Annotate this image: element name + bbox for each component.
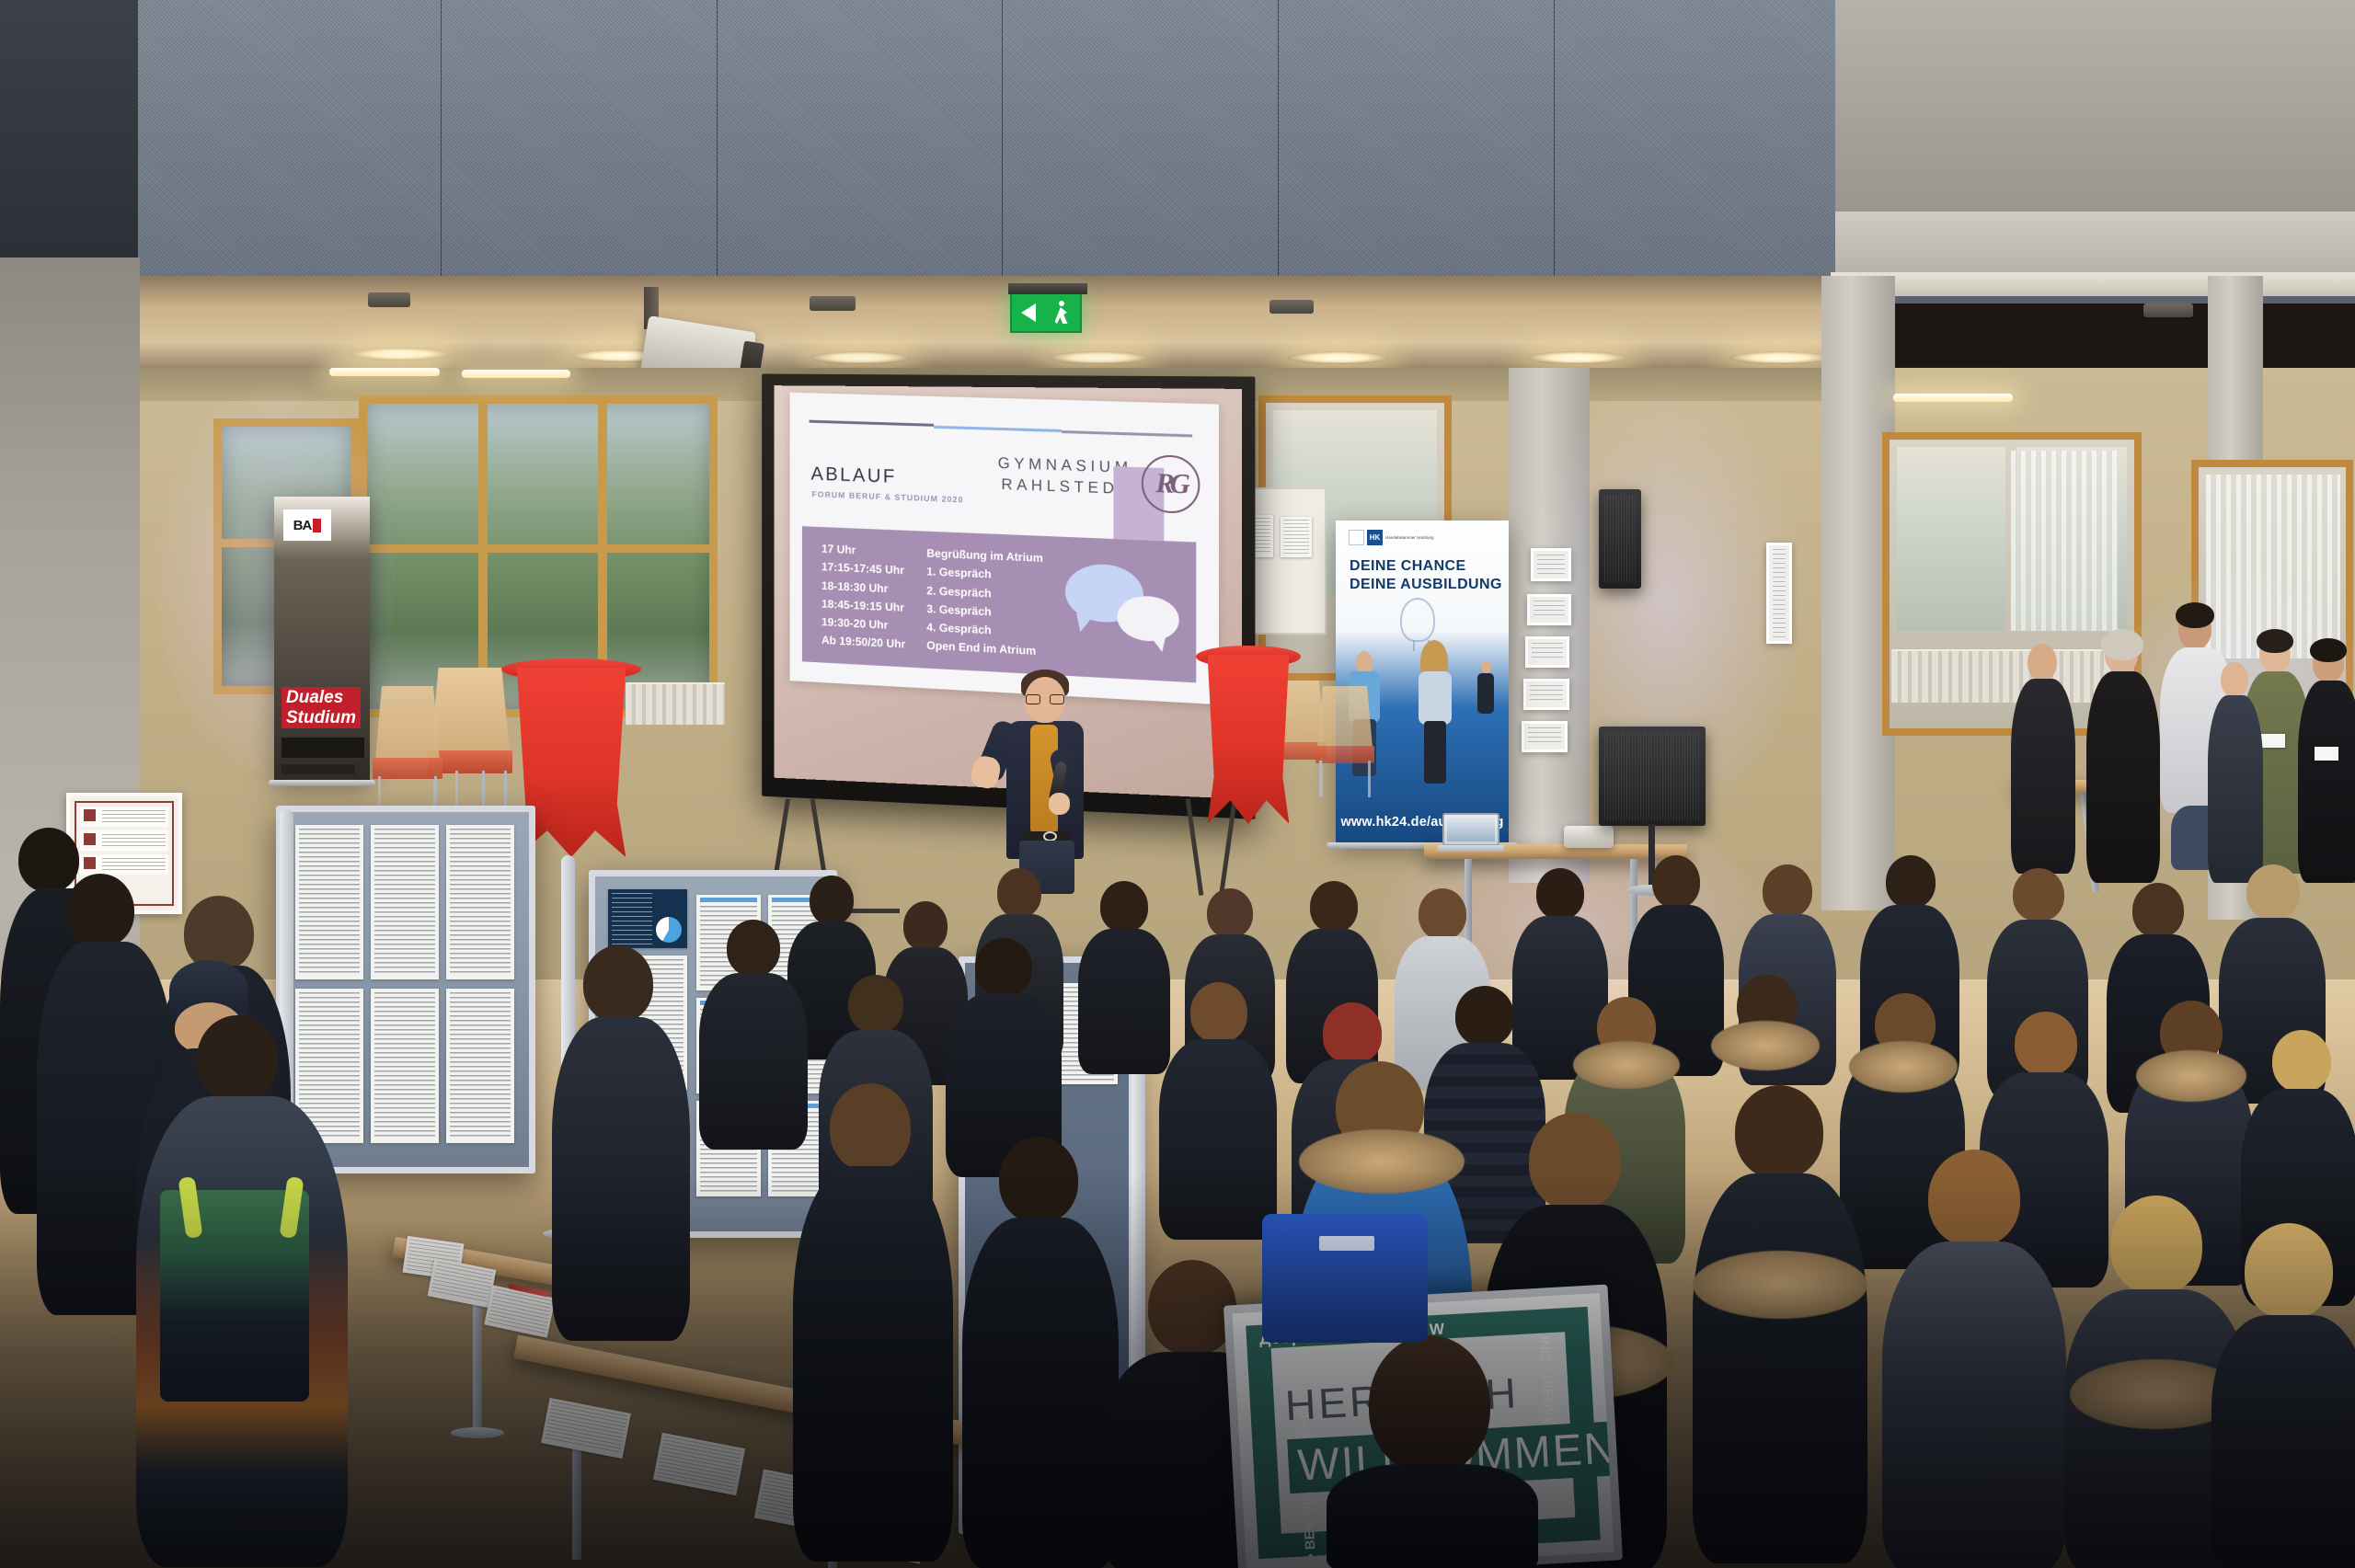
person-torso xyxy=(2208,695,2263,883)
fur-hood xyxy=(1693,1251,1867,1319)
person-head xyxy=(1928,1150,2020,1247)
ceiling-acoustic-panel xyxy=(442,0,718,285)
hk-logo: HK Handelskammer Hamburg xyxy=(1349,530,1434,545)
slide-bar-grey xyxy=(1062,430,1192,437)
downlight xyxy=(1527,351,1628,364)
ceiling-fixture xyxy=(810,296,856,311)
person-head xyxy=(1455,986,1514,1047)
arrow-left-icon xyxy=(1021,303,1036,322)
emergency-exit-sign xyxy=(1010,292,1082,333)
audience-member-with-backpack xyxy=(136,1015,348,1567)
audience-member xyxy=(1078,881,1170,1074)
person-hair xyxy=(2310,638,2347,662)
person-head xyxy=(830,1083,911,1172)
directory-lines xyxy=(102,810,166,823)
ba-logo-text: BA xyxy=(293,518,312,533)
chair xyxy=(1317,686,1373,793)
chair xyxy=(375,686,440,815)
lightbulb-icon xyxy=(1400,598,1435,642)
hk-headline-line2: DEINE AUSBILDUNG xyxy=(1350,576,1502,594)
banner-figure-female-body xyxy=(1419,671,1452,725)
hk-headline-line1: DEINE CHANCE xyxy=(1350,557,1502,576)
downlight xyxy=(1288,351,1389,364)
person-head xyxy=(66,874,134,947)
pinboard-sheet xyxy=(446,825,514,979)
rollup-banner-base xyxy=(269,780,375,786)
person-head xyxy=(999,1137,1078,1223)
slide-bar-blue xyxy=(934,425,1062,431)
bulletin-lines xyxy=(1534,601,1565,619)
window-mullion xyxy=(359,544,718,553)
person-head xyxy=(2013,868,2064,921)
fluorescent-tube xyxy=(329,368,440,376)
person-head xyxy=(2245,1223,2333,1319)
sheet-text-lines xyxy=(450,992,511,1139)
audience-member xyxy=(699,920,808,1150)
ceiling-fixture xyxy=(1269,300,1314,314)
donut-chart-icon xyxy=(656,917,682,943)
rollup-banner-duales-studium: BA Duales Studium xyxy=(274,497,370,782)
bulletin-lines xyxy=(1532,643,1563,661)
hk-headline: DEINE CHANCE DEINE AUSBILDUNG xyxy=(1350,557,1502,593)
person-head xyxy=(1763,864,1812,918)
ceiling-acoustic-panel xyxy=(1003,0,1279,285)
table-projector xyxy=(1564,826,1614,848)
glasses-icon xyxy=(1026,694,1064,704)
duales-title-line2: Studium xyxy=(286,708,356,727)
person-torso xyxy=(2211,1315,2355,1568)
speech-bubble-icon xyxy=(1117,595,1178,643)
person-head xyxy=(1536,868,1584,920)
presentation-slide: ABLAUF FORUM BERUF & STUDIUM 2020 GYMNAS… xyxy=(790,393,1219,705)
person-head xyxy=(1652,855,1700,909)
duales-title-line1: Duales xyxy=(286,688,356,707)
person-head xyxy=(2110,1196,2202,1295)
presenter xyxy=(982,664,1102,894)
fur-hood xyxy=(2136,1050,2246,1102)
person-torso xyxy=(2011,679,2075,874)
downlight xyxy=(350,348,451,361)
person-head xyxy=(2221,662,2248,697)
ceiling-acoustic-panel xyxy=(718,0,1003,285)
person-torso xyxy=(1159,1039,1277,1240)
high-table xyxy=(1196,646,1301,815)
ceiling-fixture xyxy=(368,292,410,307)
ba-logo-accent xyxy=(313,519,321,532)
person-head xyxy=(197,1015,278,1102)
wall-bulletin xyxy=(1522,721,1568,752)
bulletin-lines xyxy=(1530,685,1563,704)
laptop-screen xyxy=(1447,818,1495,841)
sheet-header-bar xyxy=(700,898,757,902)
slide-decor-bars xyxy=(810,420,1193,438)
hk-logo-square-blue: HK xyxy=(1367,530,1383,545)
ceiling-left-shadow xyxy=(0,0,138,276)
wall-pier xyxy=(1509,368,1590,883)
person-head xyxy=(810,876,854,925)
audience-member xyxy=(1693,1085,1867,1563)
ba-logo: BA xyxy=(283,509,331,541)
directory-icon xyxy=(84,809,96,821)
person-head xyxy=(1529,1113,1621,1210)
table-leg xyxy=(473,1295,482,1433)
school-name: GYMNASIUM RAHLSTEDT xyxy=(998,453,1132,500)
notice-lines xyxy=(1283,520,1309,555)
ceiling-fixture xyxy=(2143,303,2193,317)
standing-adult xyxy=(2298,644,2355,883)
person-head xyxy=(727,920,780,977)
notice-sheet xyxy=(1281,517,1312,557)
ceiling-acoustic-panel xyxy=(1555,0,1842,285)
hk-logo-square-white xyxy=(1349,530,1364,545)
person-sweater-dark xyxy=(2298,681,2355,883)
slide-subtitle: FORUM BERUF & STUDIUM 2020 xyxy=(811,489,963,504)
fur-hood xyxy=(1573,1041,1680,1089)
downlight xyxy=(810,351,911,364)
hk-logo-subtext: Handelskammer Hamburg xyxy=(1385,535,1434,541)
bulletin-lines xyxy=(1528,727,1561,746)
school-name-line2: RAHLSTEDT xyxy=(998,475,1132,500)
standing-adult xyxy=(2208,662,2263,883)
schedule-table: 17 Uhr Begrüßung im Atrium 17:15-17:45 U… xyxy=(821,540,1043,661)
speaker-grill xyxy=(1604,732,1700,820)
pinboard-sheet xyxy=(446,989,514,1143)
ceiling-acoustic-panel xyxy=(138,0,442,285)
person-torso xyxy=(793,1166,953,1562)
wall-bulletin xyxy=(1531,548,1571,581)
presenter-hand-holding-mic xyxy=(1049,793,1070,815)
pa-speaker xyxy=(1599,727,1706,826)
laptop-lid xyxy=(1442,813,1499,846)
slide-bar-violet xyxy=(810,420,934,427)
ceiling-concrete-beam xyxy=(1835,0,2355,276)
audience-member xyxy=(1882,1150,2066,1568)
presenter-laptop[interactable] xyxy=(1442,813,1499,859)
chair-back xyxy=(431,668,510,753)
sheet-lines xyxy=(431,1261,493,1304)
person-head xyxy=(2272,1030,2331,1093)
person-head xyxy=(2015,1012,2077,1076)
person-torso xyxy=(699,973,808,1150)
brand-label xyxy=(1319,1236,1374,1251)
person-torso xyxy=(1693,1173,1867,1563)
window-curtain xyxy=(2011,451,2118,631)
person-hair xyxy=(2176,602,2214,628)
audience-member xyxy=(793,1083,953,1562)
audience-member xyxy=(2211,1223,2355,1568)
bulletin-lines xyxy=(1773,549,1786,637)
person-head xyxy=(1735,1085,1823,1179)
banner-figure-suit-head xyxy=(1481,660,1491,673)
pinboard-sheet xyxy=(371,825,439,979)
pinboard-sheet xyxy=(295,825,363,979)
person-head xyxy=(1207,888,1253,938)
person-head xyxy=(975,938,1032,997)
running-person-icon xyxy=(1053,301,1072,325)
photo-scene: ABLAUF FORUM BERUF & STUDIUM 2020 GYMNAS… xyxy=(0,0,2355,1568)
person-torso xyxy=(962,1218,1119,1568)
glasses-lens xyxy=(1026,694,1040,704)
pa-speaker-wall xyxy=(1599,489,1641,589)
person-head xyxy=(2132,883,2184,938)
person-torso xyxy=(1078,929,1170,1074)
audience-member xyxy=(1262,1214,1428,1398)
high-table-skirt xyxy=(1208,655,1290,824)
person-head xyxy=(1886,855,1936,909)
slide-schedule-panel: 17 Uhr Begrüßung im Atrium 17:15-17:45 U… xyxy=(802,526,1196,682)
school-logo: GYMNASIUM RAHLSTEDT RG xyxy=(986,451,1200,525)
ceiling-trim-strip xyxy=(1831,272,2355,296)
sheet-text-lines xyxy=(374,992,435,1139)
audience-member xyxy=(962,1137,1119,1568)
sheet-text-lines xyxy=(450,829,511,976)
fur-hood xyxy=(1299,1129,1465,1194)
glasses-lens xyxy=(1050,694,1064,704)
person-hair xyxy=(2257,629,2293,653)
wall-bulletin xyxy=(1527,594,1571,625)
person-torso xyxy=(2086,671,2160,883)
standing-adult xyxy=(2081,635,2165,883)
duales-studium-title: Duales Studium xyxy=(281,687,361,728)
audience-member xyxy=(552,945,690,1341)
person-head xyxy=(903,901,948,951)
person-head xyxy=(1323,1002,1382,1063)
directory-row xyxy=(80,807,168,827)
speaker-grill xyxy=(1604,495,1636,583)
duales-subtext-block xyxy=(281,738,364,758)
wall-bulletin xyxy=(1523,679,1569,710)
person-head xyxy=(1100,881,1148,933)
chair xyxy=(431,668,510,815)
bulletin-lines xyxy=(1537,555,1565,575)
ceiling-acoustic-panel xyxy=(1279,0,1555,285)
banner-figure-female-legs xyxy=(1424,721,1446,784)
fluorescent-tube xyxy=(1893,394,2013,402)
chair-legs xyxy=(1319,761,1370,796)
slide-title: ABLAUF xyxy=(810,464,896,488)
name-badge xyxy=(2315,747,2338,761)
wall-bulletin xyxy=(1766,543,1792,644)
name-badge xyxy=(2261,734,2285,748)
laptop-base xyxy=(1438,845,1504,852)
person-head xyxy=(2246,864,2300,920)
person-torso xyxy=(1882,1242,2066,1568)
sheet-text-lines xyxy=(374,829,435,976)
standing-adult xyxy=(2011,644,2075,874)
person-head xyxy=(997,868,1041,918)
pinboard-info-card xyxy=(608,889,687,948)
person-torso xyxy=(552,1017,690,1341)
chair-back xyxy=(375,686,440,761)
table-leg-base xyxy=(451,1427,504,1438)
door-glass xyxy=(1897,447,2005,631)
fluorescent-tube xyxy=(462,370,570,378)
wall-bulletin xyxy=(1525,636,1569,668)
person-head xyxy=(2028,644,2057,681)
person-head xyxy=(1419,888,1466,940)
sheet-text-lines xyxy=(612,893,652,944)
downlight xyxy=(1049,351,1150,364)
person-head xyxy=(848,975,903,1034)
person-head xyxy=(583,945,653,1023)
downlight xyxy=(1729,351,1831,364)
fur-hood xyxy=(1711,1021,1820,1070)
pinboard-sheet xyxy=(371,989,439,1143)
banner-figure-suit xyxy=(1477,673,1494,714)
person-torso xyxy=(1327,1464,1538,1568)
duales-footer-block xyxy=(281,764,355,774)
person-jersey-blue xyxy=(1262,1214,1428,1343)
audience-member xyxy=(1159,982,1277,1240)
person-head xyxy=(1190,982,1247,1043)
exit-sign-bracket xyxy=(1008,283,1087,294)
person-head xyxy=(1310,881,1358,933)
chair-back xyxy=(1317,686,1373,748)
sheet-text-lines xyxy=(299,829,360,976)
person-hair xyxy=(2101,629,2143,660)
